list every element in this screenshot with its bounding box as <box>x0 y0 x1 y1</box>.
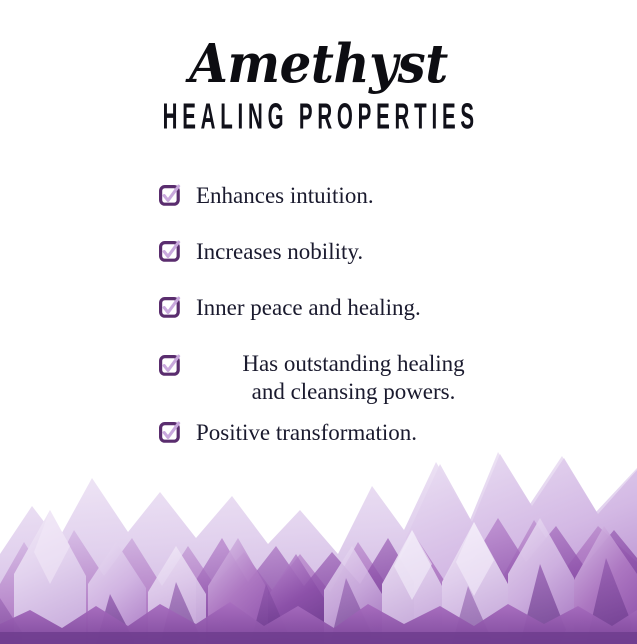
amethyst-crystal-cluster-photo <box>0 434 637 644</box>
page-title: Amethyst <box>19 36 618 92</box>
list-item: Enhances intuition. <box>0 182 637 218</box>
checkbox-checked-icon <box>159 354 181 376</box>
list-item-label: Inner peace and healing. <box>0 294 637 322</box>
poster-canvas: Amethyst HEALING PROPERTIES Enhances int… <box>0 0 637 644</box>
page-subtitle: HEALING PROPERTIES <box>115 98 523 134</box>
checkbox-checked-icon <box>159 240 181 262</box>
list-item-label: Has outstanding healing and cleansing po… <box>0 350 637 405</box>
list-item: Has outstanding healing and cleansing po… <box>0 350 637 405</box>
poster-header: Amethyst HEALING PROPERTIES <box>0 0 637 132</box>
list-item-label: Enhances intuition. <box>0 182 637 210</box>
healing-properties-list: Enhances intuition. Increases nobility. … <box>0 182 637 455</box>
list-item: Inner peace and healing. <box>0 294 637 330</box>
list-item: Increases nobility. <box>0 238 637 274</box>
checkbox-checked-icon <box>159 296 181 318</box>
list-item-label: Increases nobility. <box>0 238 637 266</box>
checkbox-checked-icon <box>159 184 181 206</box>
